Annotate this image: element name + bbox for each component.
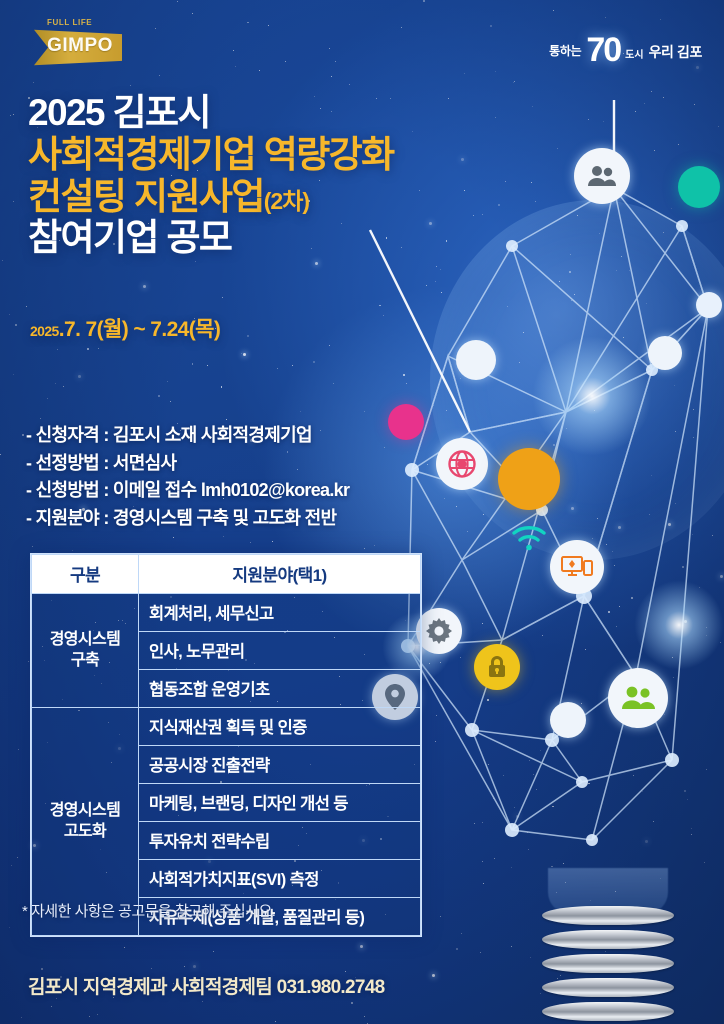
info-bullet-list: - 신청자격 : 김포시 소재 사회적경제기업 - 선정방법 : 서면심사 - … bbox=[26, 422, 446, 532]
footnote-text: * 자세한 사항은 공고문을 참고해 주십시오. bbox=[22, 900, 275, 921]
anniv-prefix-label: 통하는 bbox=[549, 42, 581, 66]
bullet-selection-method: - 선정방법 : 서면심사 bbox=[26, 450, 446, 478]
category-build-line1: 경영시스템 bbox=[33, 630, 137, 651]
gimpo-logo-wordmark: GIMPO bbox=[37, 35, 123, 57]
anniversary-70-logo: 통하는 70 도시 우리 김포 bbox=[549, 22, 702, 66]
category-advance-line2: 고도화 bbox=[33, 822, 137, 843]
bullet-application-method: - 신청방법 : 이메일 접수 lmh0102@korea.kr bbox=[26, 477, 446, 505]
bullet-eligibility: - 신청자격 : 김포시 소재 사회적경제기업 bbox=[26, 422, 446, 450]
table-row: 경영시스템 구축 회계처리, 세무신고 bbox=[32, 594, 421, 632]
title-line-3-main: 컨설팅 지원사업 bbox=[28, 176, 264, 217]
item-cell: 투자유치 전략수립 bbox=[139, 822, 421, 860]
poster-title: 2025 김포시 사회적경제기업 역량강화 컨설팅 지원사업(2차) 참여기업 … bbox=[28, 92, 498, 259]
anniv-sub-label: 도시 bbox=[625, 46, 643, 66]
table-row: 경영시스템 고도화 지식재산권 획득 및 인증 bbox=[32, 708, 421, 746]
item-cell: 공공시장 진출전략 bbox=[139, 746, 421, 784]
anniv-suffix-label: 우리 김포 bbox=[649, 42, 702, 66]
bullet-support-field: - 지원분야 : 경영시스템 구축 및 고도화 전반 bbox=[26, 505, 446, 533]
col-header-category: 구분 bbox=[32, 555, 139, 594]
anniv-number-label: 70 bbox=[586, 35, 620, 66]
item-cell: 인사, 노무관리 bbox=[139, 632, 421, 670]
period-range: .7. 7(월) ~ 7.24(목) bbox=[59, 318, 220, 341]
poster-canvas: FULL LIFE GIMPO 통하는 70 도시 우리 김포 2025 김포시… bbox=[0, 0, 724, 1024]
period-year: 2025 bbox=[30, 323, 59, 339]
title-line-2: 사회적경제기업 역량강화 bbox=[28, 134, 498, 176]
item-cell: 사회적가치지표(SVI) 측정 bbox=[139, 860, 421, 898]
application-period: 2025.7. 7(월) ~ 7.24(목) bbox=[30, 313, 220, 343]
item-cell: 회계처리, 세무신고 bbox=[139, 594, 421, 632]
gimpo-logo-tagline: FULL LIFE bbox=[47, 18, 92, 27]
category-cell-build: 경영시스템 구축 bbox=[32, 594, 139, 708]
item-cell: 마케팅, 브랜딩, 디자인 개선 등 bbox=[139, 784, 421, 822]
category-build-line2: 구축 bbox=[33, 651, 137, 672]
category-advance-line1: 경영시스템 bbox=[33, 801, 137, 822]
contact-info: 김포시 지역경제과 사회적경제팀 031.980.2748 bbox=[28, 972, 384, 999]
col-header-support-field: 지원분야(택1) bbox=[139, 555, 421, 594]
title-line-1: 2025 김포시 bbox=[28, 92, 498, 134]
item-cell: 지식재산권 획득 및 인증 bbox=[139, 708, 421, 746]
gimpo-city-logo: FULL LIFE GIMPO bbox=[30, 18, 126, 66]
title-line-3: 컨설팅 지원사업(2차) bbox=[28, 176, 498, 218]
title-line-3-phase: (2차) bbox=[264, 188, 309, 214]
table-header-row: 구분 지원분야(택1) bbox=[32, 555, 421, 594]
title-line-4: 참여기업 공모 bbox=[28, 217, 498, 259]
item-cell: 협동조합 운영기초 bbox=[139, 670, 421, 708]
support-fields-table: 구분 지원분야(택1) 경영시스템 구축 회계처리, 세무신고 인사, 노무관리… bbox=[30, 553, 422, 937]
